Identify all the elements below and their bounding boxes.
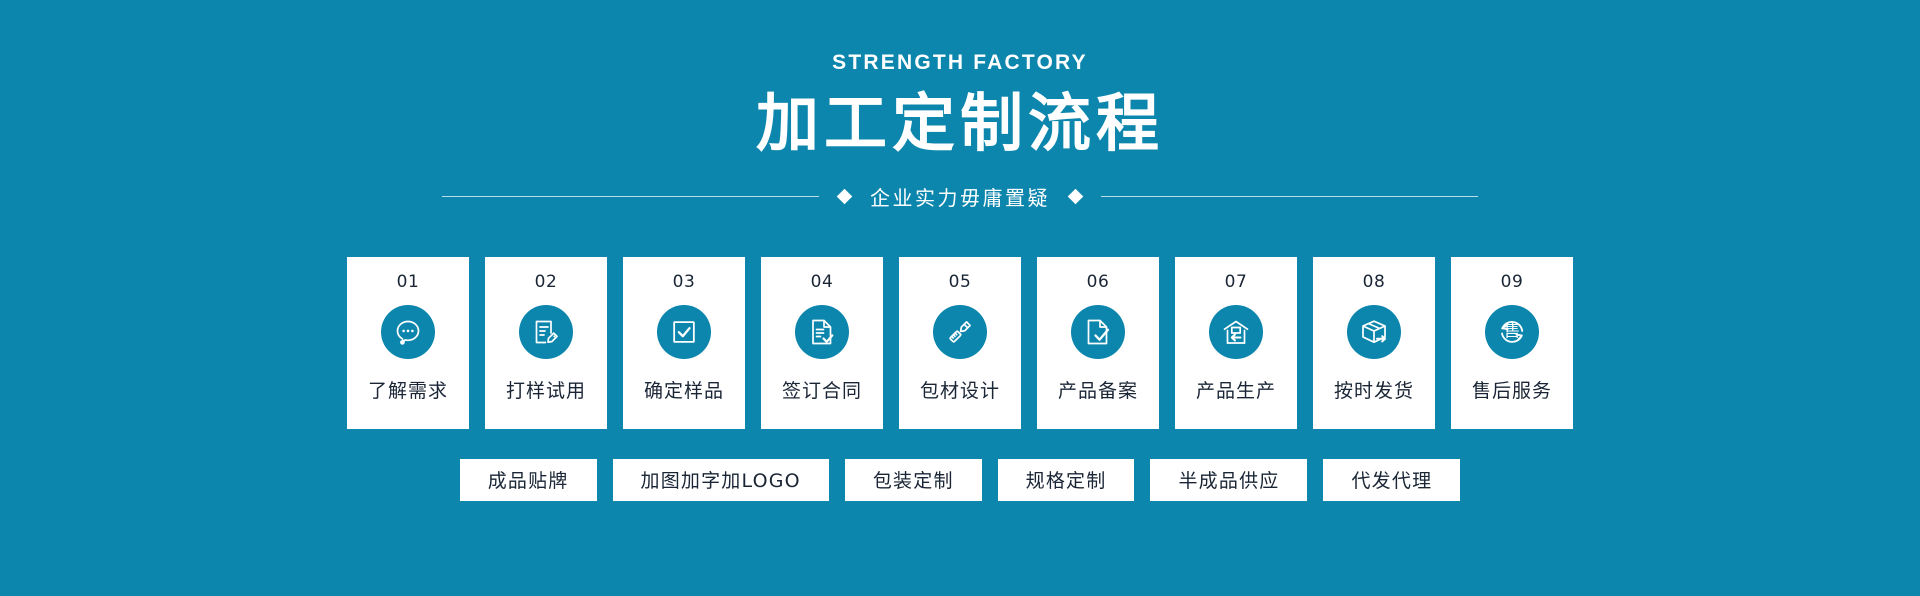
subtitle-row: 企业实力毋庸置疑 [442, 182, 1478, 211]
checkbox-icon [657, 305, 711, 359]
contract-check-icon [795, 305, 849, 359]
step-number: 04 [811, 274, 834, 291]
page-title: 加工定制流程 [756, 89, 1164, 160]
process-steps: 01 了解需求 02 [347, 257, 1573, 429]
tag-finished-oem[interactable]: 成品贴牌 [460, 459, 597, 501]
tag-add-logo[interactable]: 加图加字加LOGO [613, 459, 829, 501]
banner-header: STRENGTH FACTORY 加工定制流程 企业实力毋庸置疑 [0, 0, 1920, 211]
step-card-05[interactable]: 05 包材设计 [899, 257, 1021, 429]
step-label: 了解需求 [368, 376, 448, 403]
step-card-01[interactable]: 01 了解需求 [347, 257, 469, 429]
step-card-07[interactable]: 07 产品生产 [1175, 257, 1297, 429]
step-number: 02 [535, 274, 558, 291]
rule-right [1101, 196, 1478, 197]
step-label: 签订合同 [782, 376, 862, 403]
tag-spec-custom[interactable]: 规格定制 [998, 459, 1135, 501]
step-number: 03 [673, 274, 696, 291]
step-number: 08 [1363, 274, 1386, 291]
step-number: 05 [949, 274, 972, 291]
step-card-03[interactable]: 03 确定样品 [623, 257, 745, 429]
step-label: 包材设计 [920, 376, 1000, 403]
factory-inbound-icon [1209, 305, 1263, 359]
eyebrow-text: STRENGTH FACTORY [832, 52, 1088, 73]
step-number: 06 [1087, 274, 1110, 291]
box-arrow-icon [1347, 305, 1401, 359]
tag-semi-finished[interactable]: 半成品供应 [1150, 459, 1307, 501]
tag-dropshipping[interactable]: 代发代理 [1323, 459, 1460, 501]
tag-package-custom[interactable]: 包装定制 [845, 459, 982, 501]
step-number: 01 [397, 274, 420, 291]
step-label: 产品生产 [1196, 376, 1276, 403]
step-label: 按时发货 [1334, 376, 1414, 403]
diamond-right-icon [1068, 188, 1084, 204]
step-label: 售后服务 [1472, 376, 1552, 403]
step-card-02[interactable]: 02 打样试用 [485, 257, 607, 429]
process-banner: STRENGTH FACTORY 加工定制流程 企业实力毋庸置疑 01 [0, 0, 1920, 596]
document-tag-icon [519, 305, 573, 359]
service-tags: 成品贴牌 加图加字加LOGO 包装定制 规格定制 半成品供应 代发代理 [460, 459, 1461, 501]
rule-left [442, 196, 819, 197]
step-label: 产品备案 [1058, 376, 1138, 403]
step-number: 07 [1225, 274, 1248, 291]
step-card-09[interactable]: 09 售 售后服务 [1451, 257, 1573, 429]
chat-bubble-icon [381, 305, 435, 359]
after-sales-glyph: 售 [1504, 321, 1521, 341]
step-card-08[interactable]: 08 按时发货 [1313, 257, 1435, 429]
step-label: 打样试用 [506, 376, 586, 403]
step-label: 确定样品 [644, 376, 724, 403]
after-sales-refresh-icon: 售 [1485, 305, 1539, 359]
subtitle-text: 企业实力毋庸置疑 [870, 182, 1050, 211]
diamond-left-icon [837, 188, 853, 204]
step-card-04[interactable]: 04 签订合同 [761, 257, 883, 429]
pencil-ruler-icon [933, 305, 987, 359]
step-card-06[interactable]: 06 产品备案 [1037, 257, 1159, 429]
file-check-icon [1071, 305, 1125, 359]
step-number: 09 [1501, 274, 1524, 291]
